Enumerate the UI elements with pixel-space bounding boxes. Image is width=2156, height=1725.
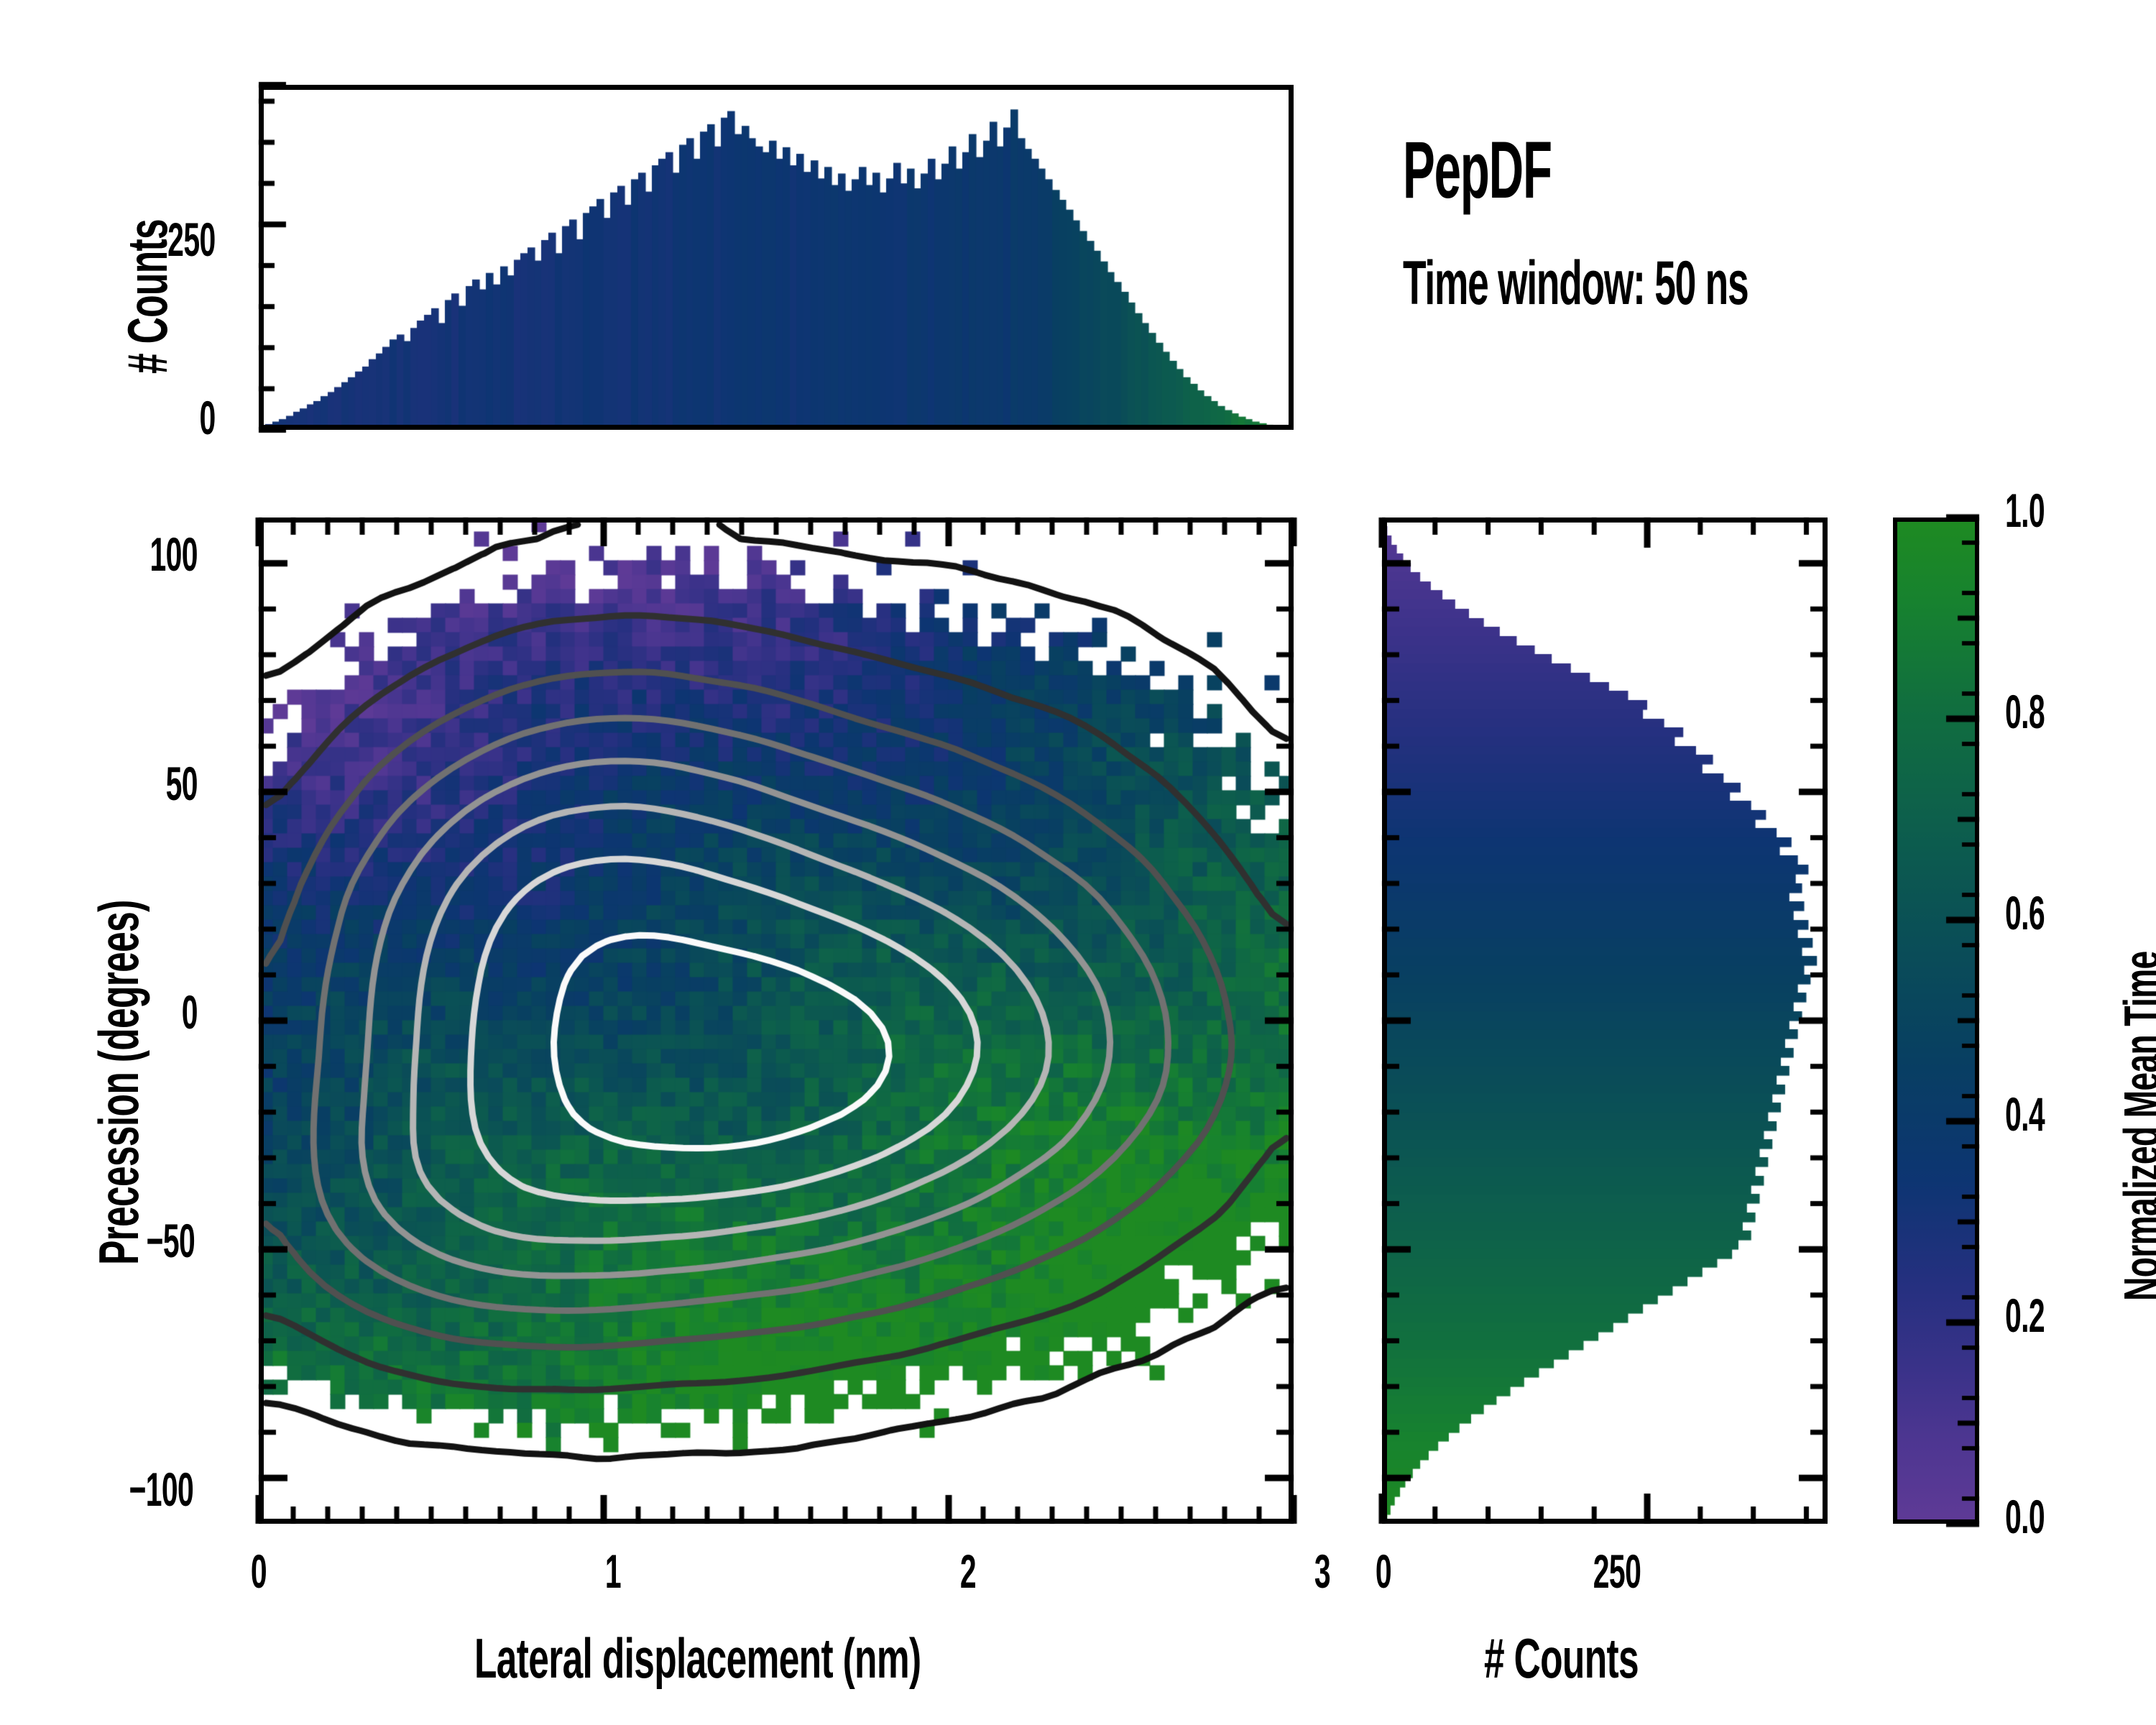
main-ytick-100: 100 <box>68 527 198 581</box>
right-hist-xtick-250: 250 <box>1568 1544 1666 1598</box>
top-hist-ytick-0: 0 <box>144 390 215 445</box>
right-hist-xtick-0: 0 <box>1357 1544 1410 1598</box>
colorbar-tick-0-8: 0.8 <box>2005 684 2094 739</box>
main-ylabel: Precession (degrees) <box>86 900 152 1265</box>
main-panel-tick-marks <box>208 503 1330 1596</box>
main-ytick-50: 50 <box>68 756 198 811</box>
main-xtick-1: 1 <box>586 1544 640 1598</box>
colorbar-tick-1-0: 1.0 <box>2005 483 2094 538</box>
right-hist-xlabel: # Counts <box>1484 1626 1639 1691</box>
colorbar-tick-0-0: 0.0 <box>2005 1489 2094 1544</box>
top-hist-ylabel: # Counts <box>115 219 180 374</box>
right-histogram-tick-marks <box>1365 503 1869 1596</box>
colorbar-tick-0-6: 0.6 <box>2005 885 2094 940</box>
colorbar-tick-0-2: 0.2 <box>2005 1288 2094 1343</box>
main-xtick-2: 2 <box>941 1544 995 1598</box>
main-xtick-0: 0 <box>232 1544 285 1598</box>
page-title: PepDF <box>1403 124 1552 216</box>
main-xlabel: Lateral displacement (nm) <box>474 1626 921 1691</box>
top-marginal-histogram-panel <box>259 85 1294 430</box>
main-ytick-minus100: −100 <box>51 1462 193 1517</box>
colorbar-label: Normalized Mean Time <box>2113 951 2156 1301</box>
main-xtick-3: 3 <box>1296 1544 1349 1598</box>
colorbar-tick-0-4: 0.4 <box>2005 1087 2094 1141</box>
colorbar-tick-marks <box>1940 503 2027 1552</box>
top-histogram-canvas <box>259 85 1294 430</box>
figure-root: 250 0 # Counts PepDF Time window: 50 ns … <box>0 0 2156 1725</box>
time-window-subtitle: Time window: 50 ns <box>1403 248 1748 319</box>
